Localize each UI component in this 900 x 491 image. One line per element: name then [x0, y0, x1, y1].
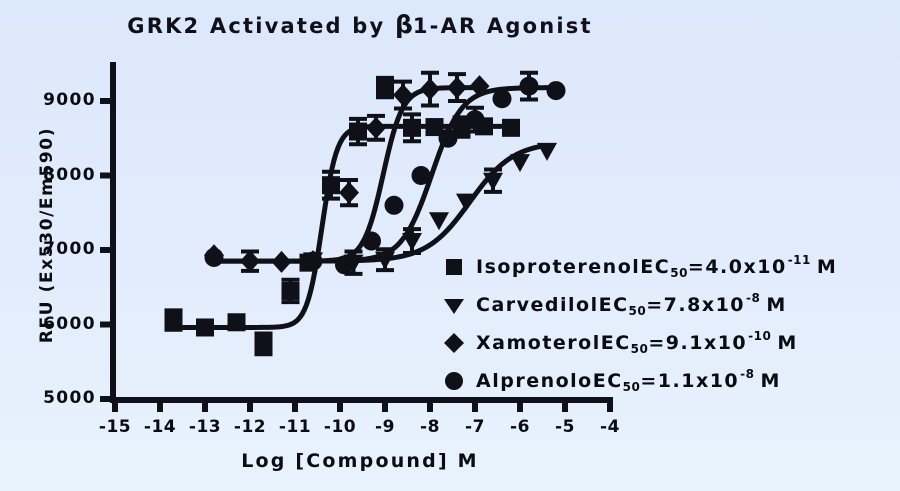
triangle-down-marker	[441, 292, 467, 318]
legend-ec-subscript: 50	[629, 304, 647, 318]
data-point-isoproterenol	[255, 333, 273, 354]
data-point-isoproterenol	[502, 119, 520, 137]
data-point-xamoterol	[393, 82, 413, 109]
legend-ec-unit: M	[755, 370, 781, 392]
legend-label: Alprenolo EC50=1.1x10-8M	[476, 370, 781, 392]
x-tick-label: -4	[586, 417, 634, 437]
legend-label: Carvedilol EC50=7.8x10-8M	[476, 294, 787, 316]
data-point-carvedilol	[537, 143, 557, 161]
legend-item: Alprenolo EC50=1.1x10-8M	[432, 362, 837, 400]
x-tick-label: -13	[181, 417, 229, 437]
data-point-xamoterol	[420, 73, 440, 106]
legend-ec-subscript: 50	[670, 266, 688, 280]
y-tick-label: 9000	[0, 90, 96, 110]
legend-marker-isoproterenol	[432, 254, 476, 280]
data-point-alprenolo	[493, 89, 512, 108]
legend-ec-exponent: -11	[787, 253, 811, 267]
legend-item: Xamoterol EC50=9.1x10-10M	[432, 324, 837, 362]
legend-compound-name: Carvedilol	[476, 294, 599, 316]
data-point-xamoterol	[240, 250, 260, 272]
square-marker	[441, 254, 467, 280]
legend-marker-carvedilol	[432, 292, 476, 318]
data-point-alprenolo	[547, 81, 566, 100]
legend-compound-name: Alprenolo	[476, 370, 593, 392]
chart-legend: Isoproterenol EC50=4.0x10-11MCarvedilol …	[432, 248, 837, 400]
data-point-alprenolo	[335, 255, 354, 274]
legend-label: Xamoterol EC50=9.1x10-10M	[476, 332, 798, 354]
y-tick-label: 6000	[0, 314, 96, 334]
data-point-carvedilol	[429, 212, 449, 230]
legend-ec-value: =1.1x10	[640, 370, 739, 392]
data-point-xamoterol	[447, 74, 467, 101]
legend-item: Isoproterenol EC50=4.0x10-11M	[432, 248, 837, 286]
x-tick-label: -7	[451, 417, 499, 437]
legend-ec-exponent: -8	[745, 291, 760, 305]
legend-ec-label: EC	[640, 256, 670, 278]
legend-ec-value: =4.0x10	[688, 256, 787, 278]
data-point-isoproterenol	[165, 310, 183, 329]
legend-ec-label: EC	[593, 370, 623, 392]
y-tick-label: 5000	[0, 388, 96, 408]
diamond-marker	[441, 330, 467, 356]
data-point-isoproterenol	[376, 78, 394, 97]
x-tick-label: -9	[361, 417, 409, 437]
legend-marker-xamoterol	[432, 330, 476, 356]
data-point-alprenolo	[520, 73, 539, 100]
data-point-alprenolo	[362, 232, 381, 251]
data-point-xamoterol	[339, 180, 359, 205]
legend-item: Carvedilol EC50=7.8x10-8M	[432, 286, 837, 324]
data-point-xamoterol	[272, 251, 292, 273]
legend-ec-label: EC	[601, 332, 631, 354]
data-point-isoproterenol	[403, 114, 421, 141]
data-point-isoproterenol	[349, 119, 367, 144]
data-point-isoproterenol	[196, 318, 214, 336]
legend-ec-label: EC	[599, 294, 629, 316]
data-point-alprenolo	[439, 129, 458, 148]
legend-compound-name: Isoproterenol	[476, 256, 640, 278]
x-tick-label: -8	[406, 417, 454, 437]
data-point-isoproterenol	[228, 313, 246, 331]
figure-panel: GRK2 Activated by β1-AR Agonist RFU (Ex5…	[0, 0, 900, 491]
data-point-xamoterol	[366, 116, 386, 140]
circle-marker	[441, 368, 467, 394]
data-point-alprenolo	[205, 248, 224, 267]
x-tick-label: -6	[496, 417, 544, 437]
data-point-alprenolo	[385, 196, 404, 215]
x-tick-label: -5	[541, 417, 589, 437]
y-tick-label: 7000	[0, 239, 96, 259]
data-point-alprenolo	[304, 252, 323, 271]
data-point-isoproterenol	[282, 280, 300, 302]
x-tick-label: -11	[271, 417, 319, 437]
legend-ec-exponent: -8	[739, 367, 754, 381]
legend-ec-value: =9.1x10	[648, 332, 747, 354]
x-tick-label: -12	[226, 417, 274, 437]
legend-ec-subscript: 50	[631, 342, 649, 356]
x-tick-label: -10	[316, 417, 364, 437]
legend-label: Isoproterenol EC50=4.0x10-11M	[476, 256, 837, 278]
legend-marker-alprenolo	[432, 368, 476, 394]
x-tick-label: -14	[136, 417, 184, 437]
legend-compound-name: Xamoterol	[476, 332, 601, 354]
x-tick-label: -15	[91, 417, 139, 437]
data-point-carvedilol	[510, 154, 530, 172]
data-point-carvedilol	[456, 194, 476, 212]
legend-ec-value: =7.8x10	[646, 294, 745, 316]
data-point-alprenolo	[412, 166, 431, 185]
legend-ec-unit: M	[771, 332, 797, 354]
y-tick-label: 8000	[0, 165, 96, 185]
legend-ec-unit: M	[811, 256, 837, 278]
legend-ec-exponent: -10	[747, 329, 771, 343]
legend-ec-unit: M	[760, 294, 786, 316]
legend-ec-subscript: 50	[623, 380, 641, 394]
